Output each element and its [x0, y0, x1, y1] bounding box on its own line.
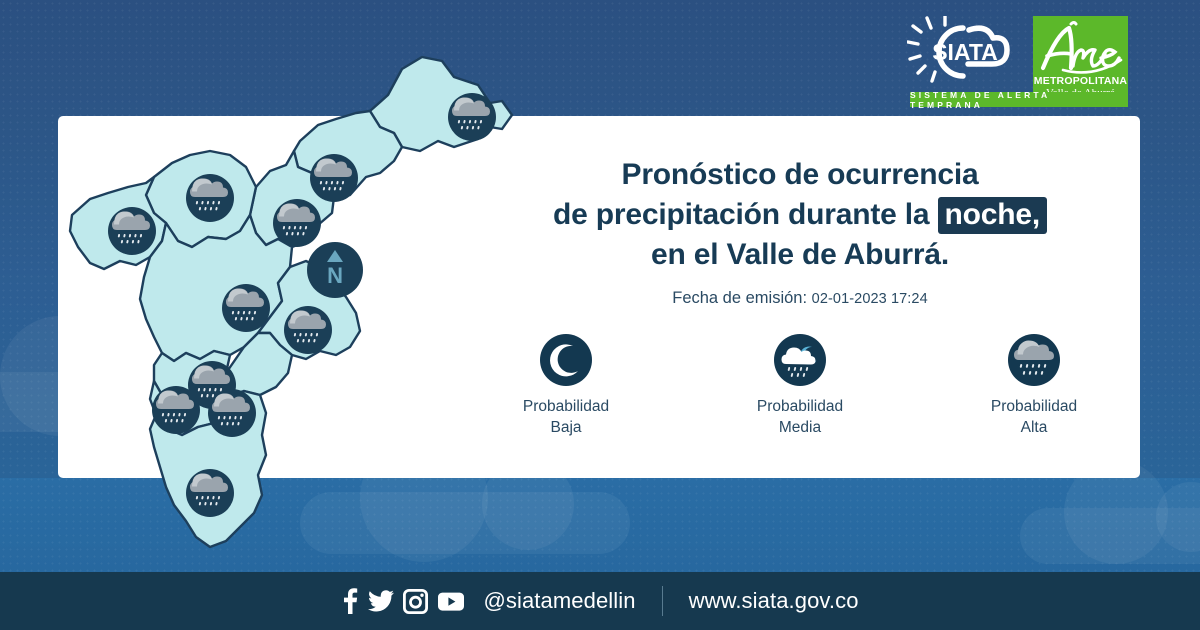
- emission-date: Fecha de emisión: 02-01-2023 17:24: [470, 289, 1130, 308]
- moon-icon: [540, 334, 592, 386]
- station-icon-la-estrella[interactable]: [152, 386, 200, 434]
- legend-media-line2: Media: [757, 417, 843, 438]
- legend-media-line1: Probabilidad: [757, 396, 843, 417]
- footer-bar: @siatamedellin www.siata.gov.co: [0, 572, 1200, 630]
- siata-tagline-bar: SISTEMA DE ALERTA TEMPRANA: [910, 92, 1128, 107]
- youtube-icon[interactable]: [437, 591, 465, 612]
- website-url[interactable]: www.siata.gov.co: [689, 588, 859, 614]
- area-script-mark: [1033, 18, 1128, 76]
- station-icon-copacabana[interactable]: [273, 199, 321, 247]
- compass-north-icon: N: [307, 242, 363, 298]
- footer-divider: [662, 586, 663, 616]
- legend-alta-line2: Alta: [991, 417, 1077, 438]
- emission-date-label: Fecha de emisión:: [672, 289, 807, 307]
- siata-logo: SIATA: [907, 16, 1025, 88]
- title-line-1: Pronóstico de ocurrencia: [470, 155, 1130, 195]
- legend-baja-line1: Probabilidad: [523, 396, 609, 417]
- station-icon-san-pedro[interactable]: [108, 207, 156, 255]
- siata-tagline-text: SISTEMA DE ALERTA TEMPRANA: [910, 90, 1128, 110]
- title-line-3: en el Valle de Aburrá.: [470, 235, 1130, 275]
- area-logo-line1: METROPOLITANA: [1034, 75, 1127, 87]
- social-icon-group: [341, 588, 465, 614]
- legend-label-alta: Probabilidad Alta: [991, 396, 1077, 438]
- probability-legend: Probabilidad Baja: [470, 334, 1130, 438]
- legend-item-media: Probabilidad Media: [725, 334, 875, 438]
- legend-label-baja: Probabilidad Baja: [523, 396, 609, 438]
- instagram-icon[interactable]: [403, 589, 428, 614]
- compass-north-label: N: [327, 263, 343, 288]
- legend-alta-line1: Probabilidad: [991, 396, 1077, 417]
- siata-wordmark: SIATA: [932, 39, 998, 65]
- cloud-rain-icon: [1008, 334, 1060, 386]
- station-icon-bello[interactable]: [186, 174, 234, 222]
- facebook-icon[interactable]: [341, 588, 359, 614]
- station-icon-caldas[interactable]: [186, 469, 234, 517]
- legend-baja-line2: Baja: [523, 417, 609, 438]
- legend-item-baja: Probabilidad Baja: [491, 334, 641, 438]
- title-line-2: de precipitación durante la noche,: [470, 195, 1130, 235]
- station-icon-sabaneta[interactable]: [208, 389, 256, 437]
- page-title: Pronóstico de ocurrencia de precipitació…: [470, 155, 1130, 275]
- legend-label-media: Probabilidad Media: [757, 396, 843, 438]
- station-icon-envigado[interactable]: [284, 306, 332, 354]
- legend-item-alta: Probabilidad Alta: [959, 334, 1109, 438]
- emission-date-value: 02-01-2023 17:24: [812, 291, 928, 307]
- title-highlight-noche: noche,: [938, 197, 1047, 234]
- station-icon-girardota[interactable]: [310, 154, 358, 202]
- forecast-panel: Pronóstico de ocurrencia de precipitació…: [470, 155, 1130, 438]
- twitter-icon[interactable]: [368, 589, 394, 613]
- station-icon-barbosa[interactable]: [448, 93, 496, 141]
- station-icon-medellin[interactable]: [222, 284, 270, 332]
- title-line-2-text: de precipitación durante la: [553, 198, 929, 231]
- valle-de-aburra-map: N: [50, 55, 530, 565]
- social-handle[interactable]: @siatamedellin: [483, 588, 635, 614]
- cloud-moon-rain-icon: [774, 334, 826, 386]
